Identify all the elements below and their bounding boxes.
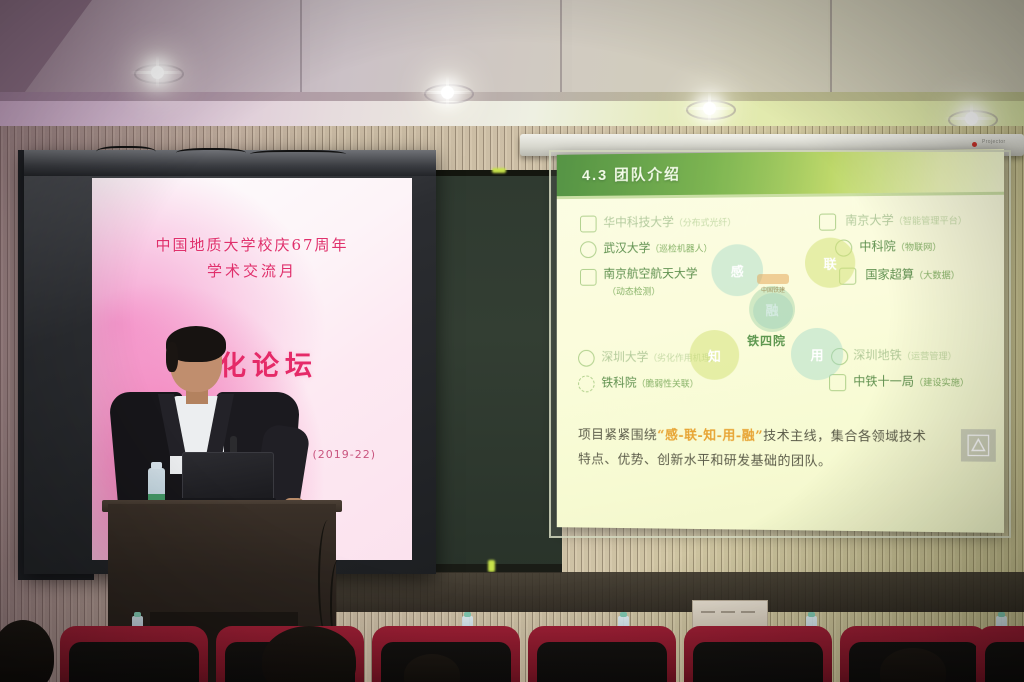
stage-front-band xyxy=(330,572,1024,612)
seat-4[interactable] xyxy=(528,626,676,682)
left-slide-subtitle: 学术交流月 xyxy=(92,260,412,281)
bottle-cap xyxy=(808,612,815,617)
left-slide-date: (2019-22) xyxy=(312,448,376,461)
display-cable xyxy=(250,150,346,160)
ceiling-panel xyxy=(310,0,560,96)
lecture-hall-photo: 中国地质大学校庆67周年 学术交流月 文化论坛 (2019-22) Projec… xyxy=(0,0,1024,682)
power-indicator-icon xyxy=(972,142,977,147)
seat-back-pad xyxy=(69,642,199,682)
green-light-glint xyxy=(488,560,495,572)
bottle-cap xyxy=(998,612,1005,617)
bottle-cap xyxy=(620,612,627,617)
bottle-cap xyxy=(151,462,162,469)
seat-back-pad xyxy=(985,642,1024,682)
audience-head-1 xyxy=(0,620,54,682)
display-cable xyxy=(96,146,156,160)
green-light-glint xyxy=(492,168,506,173)
audience-seat-row xyxy=(0,610,1024,682)
left-slide-title: 中国地质大学校庆67周年 xyxy=(92,230,412,260)
projection-screen-border xyxy=(549,150,1011,538)
seat-1[interactable] xyxy=(60,626,208,682)
laptop-screen[interactable] xyxy=(182,452,274,502)
presenter-hair-side xyxy=(166,342,178,372)
seat-5[interactable] xyxy=(684,626,832,682)
display-cable xyxy=(176,148,246,160)
presenter-laptop[interactable] xyxy=(178,452,276,506)
seat-back-pad xyxy=(693,642,823,682)
seat-7[interactable] xyxy=(976,626,1024,682)
seat-back-pad xyxy=(537,642,667,682)
bottle-cap xyxy=(134,612,141,617)
soffit-shadow xyxy=(0,92,1024,101)
ceiling-seam xyxy=(300,0,302,96)
housing-brand-label: Projector xyxy=(982,139,1006,145)
bottle-cap xyxy=(464,612,471,617)
